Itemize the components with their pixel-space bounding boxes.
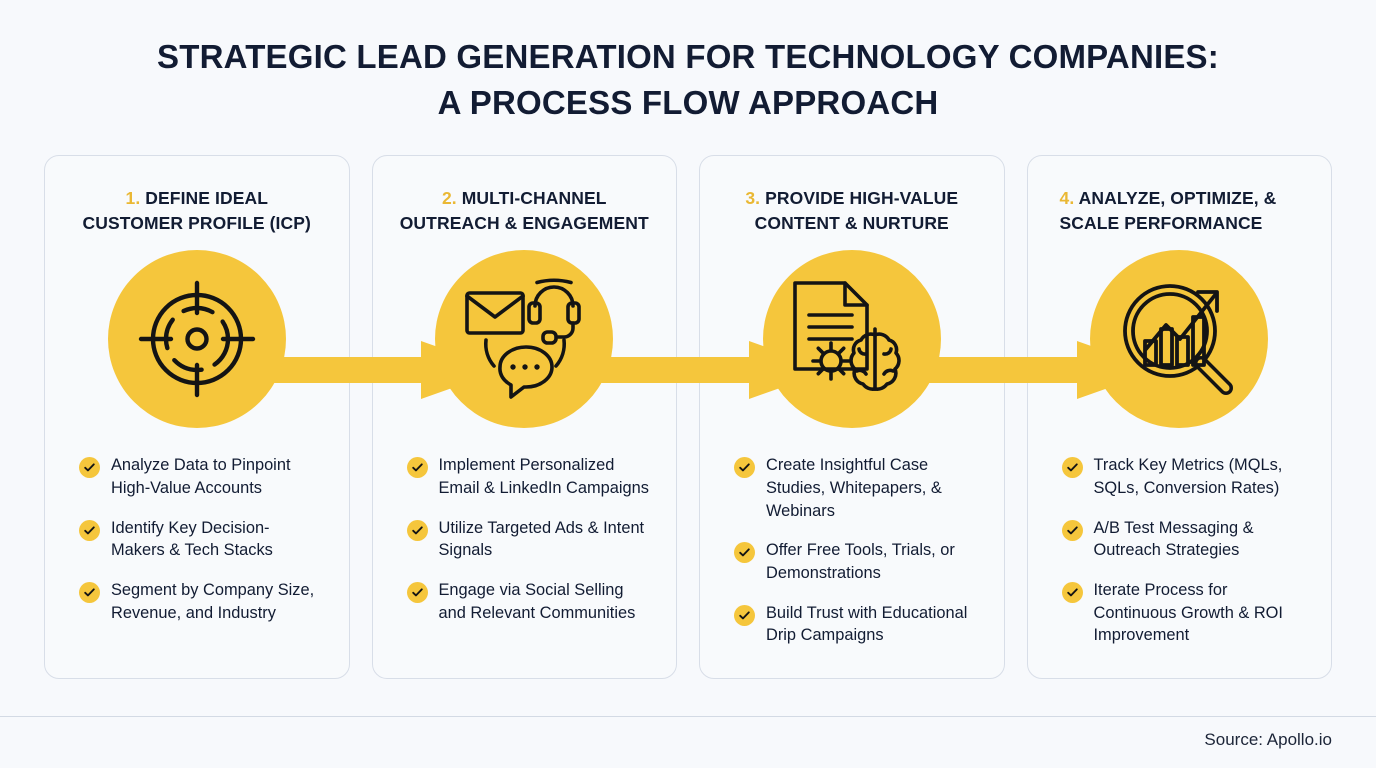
step-1-heading-line-1: DEFINE IDEAL xyxy=(145,188,268,208)
step-1-heading: 1. DEFINE IDEAL CUSTOMER PROFILE (ICP) xyxy=(67,186,327,236)
step-3-icon-circle xyxy=(763,250,941,428)
step-3-heading-line-1: PROVIDE HIGH-VALUE xyxy=(765,188,958,208)
step-card-4[interactable]: 4. ANALYZE, OPTIMIZE, & SCALE PERFORMANC… xyxy=(1027,155,1333,679)
page-title-line-2: A PROCESS FLOW APPROACH xyxy=(60,80,1316,126)
step-1-number: 1. xyxy=(126,188,141,208)
step-1-icon-circle xyxy=(108,250,286,428)
process-steps-row: 1. DEFINE IDEAL CUSTOMER PROFILE (ICP) xyxy=(44,155,1332,679)
list-item-text: Analyze Data to Pinpoint High-Value Acco… xyxy=(111,454,323,499)
step-3-heading-line-2: CONTENT & NURTURE xyxy=(755,213,949,233)
list-item: Utilize Targeted Ads & Intent Signals xyxy=(407,517,651,562)
step-2-number: 2. xyxy=(442,188,457,208)
check-icon xyxy=(1062,457,1083,478)
step-2-heading-line-2: OUTREACH & ENGAGEMENT xyxy=(400,213,649,233)
magnifier-growth-chart-icon xyxy=(1116,277,1242,401)
check-icon xyxy=(79,520,100,541)
check-icon xyxy=(79,582,100,603)
page-title: STRATEGIC LEAD GENERATION FOR TECHNOLOGY… xyxy=(0,34,1376,125)
list-item: Analyze Data to Pinpoint High-Value Acco… xyxy=(79,454,323,499)
list-item: Build Trust with Educational Drip Campai… xyxy=(734,602,978,647)
list-item-text: Create Insightful Case Studies, Whitepap… xyxy=(766,454,978,522)
step-4-icon-circle xyxy=(1090,250,1268,428)
list-item-text: Build Trust with Educational Drip Campai… xyxy=(766,602,978,647)
infographic-page: STRATEGIC LEAD GENERATION FOR TECHNOLOGY… xyxy=(0,0,1376,768)
list-item-text: Segment by Company Size, Revenue, and In… xyxy=(111,579,323,624)
step-3-number: 3. xyxy=(745,188,760,208)
step-4-heading-line-2: SCALE PERFORMANCE xyxy=(1060,213,1263,233)
list-item: Track Key Metrics (MQLs, SQLs, Conversio… xyxy=(1062,454,1306,499)
step-1-heading-line-2: CUSTOMER PROFILE (ICP) xyxy=(83,213,311,233)
step-4-bullet-list: Track Key Metrics (MQLs, SQLs, Conversio… xyxy=(1050,454,1310,646)
step-2-heading: 2. MULTI-CHANNEL OUTREACH & ENGAGEMENT xyxy=(395,186,655,236)
list-item: A/B Test Messaging & Outreach Strategies xyxy=(1062,517,1306,562)
list-item-text: Engage via Social Selling and Relevant C… xyxy=(439,579,651,624)
list-item-text: Utilize Targeted Ads & Intent Signals xyxy=(439,517,651,562)
list-item: Implement Personalized Email & LinkedIn … xyxy=(407,454,651,499)
list-item: Iterate Process for Continuous Growth & … xyxy=(1062,579,1306,647)
list-item: Offer Free Tools, Trials, or Demonstrati… xyxy=(734,539,978,584)
source-label: Source: Apollo.io xyxy=(1204,730,1332,750)
check-icon xyxy=(1062,582,1083,603)
list-item: Engage via Social Selling and Relevant C… xyxy=(407,579,651,624)
list-item-text: A/B Test Messaging & Outreach Strategies xyxy=(1094,517,1306,562)
check-icon xyxy=(407,520,428,541)
list-item: Segment by Company Size, Revenue, and In… xyxy=(79,579,323,624)
list-item: Identify Key Decision-Makers & Tech Stac… xyxy=(79,517,323,562)
list-item-text: Implement Personalized Email & LinkedIn … xyxy=(439,454,651,499)
check-icon xyxy=(407,457,428,478)
document-gear-brain-icon xyxy=(789,277,915,401)
list-item-text: Track Key Metrics (MQLs, SQLs, Conversio… xyxy=(1094,454,1306,499)
step-2-icon-circle xyxy=(435,250,613,428)
step-1-bullet-list: Analyze Data to Pinpoint High-Value Acco… xyxy=(67,454,327,624)
step-4-number: 4. xyxy=(1060,188,1075,208)
step-2-heading-line-1: MULTI-CHANNEL xyxy=(462,188,607,208)
check-icon xyxy=(407,582,428,603)
check-icon xyxy=(734,457,755,478)
target-crosshair-icon xyxy=(135,277,259,401)
check-icon xyxy=(79,457,100,478)
list-item-text: Iterate Process for Continuous Growth & … xyxy=(1094,579,1306,647)
list-item-text: Offer Free Tools, Trials, or Demonstrati… xyxy=(766,539,978,584)
step-3-heading: 3. PROVIDE HIGH-VALUE CONTENT & NURTURE xyxy=(722,186,982,236)
step-4-heading: 4. ANALYZE, OPTIMIZE, & SCALE PERFORMANC… xyxy=(1050,186,1310,236)
multichannel-outreach-icon xyxy=(461,277,587,401)
step-2-bullet-list: Implement Personalized Email & LinkedIn … xyxy=(395,454,655,624)
step-4-heading-line-1: ANALYZE, OPTIMIZE, & xyxy=(1079,188,1277,208)
list-item-text: Identify Key Decision-Makers & Tech Stac… xyxy=(111,517,323,562)
step-3-bullet-list: Create Insightful Case Studies, Whitepap… xyxy=(722,454,982,646)
step-card-3[interactable]: 3. PROVIDE HIGH-VALUE CONTENT & NURTURE xyxy=(699,155,1005,679)
step-card-1[interactable]: 1. DEFINE IDEAL CUSTOMER PROFILE (ICP) xyxy=(44,155,350,679)
list-item: Create Insightful Case Studies, Whitepap… xyxy=(734,454,978,522)
footer-divider xyxy=(0,716,1376,717)
check-icon xyxy=(734,542,755,563)
step-card-2[interactable]: 2. MULTI-CHANNEL OUTREACH & ENGAGEMENT xyxy=(372,155,678,679)
check-icon xyxy=(1062,520,1083,541)
check-icon xyxy=(734,605,755,626)
page-title-line-1: STRATEGIC LEAD GENERATION FOR TECHNOLOGY… xyxy=(60,34,1316,80)
